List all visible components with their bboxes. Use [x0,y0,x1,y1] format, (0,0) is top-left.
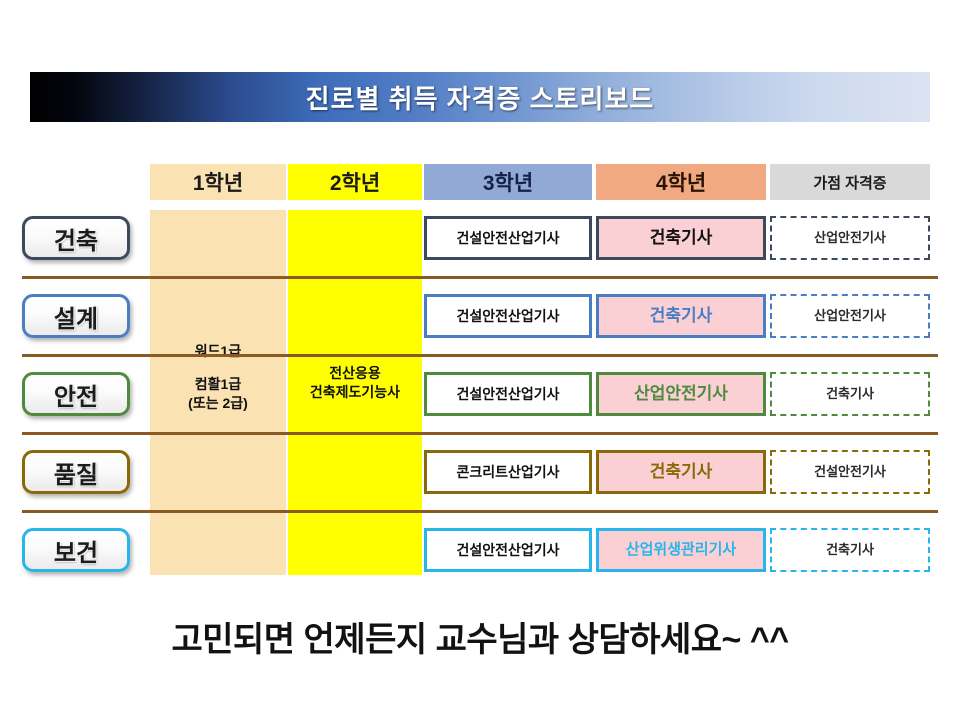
year2-line2: 건축제도기능사 [310,384,400,400]
year1-line3: (또는 2급) [188,395,248,411]
row-label-3[interactable]: 품질 [22,450,130,494]
year2-line1: 전산응용 [329,365,381,381]
cert-year4-row0[interactable]: 건축기사 [596,216,766,260]
column-header-year4: 4학년 [596,164,766,200]
row-label-2[interactable]: 안전 [22,372,130,416]
year1-line2: 컴활1급 [195,376,241,392]
page-title: 진로별 취득 자격증 스토리보드 [306,79,655,116]
cert-bonus-row3[interactable]: 건설안전기사 [770,450,930,494]
cert-bonus-row4[interactable]: 건축기사 [770,528,930,572]
cert-year3-row1[interactable]: 건설안전산업기사 [424,294,592,338]
column-header-year2: 2학년 [288,164,422,200]
column-header-year3: 3학년 [424,164,592,200]
row-separator-overlay [22,276,938,279]
row-label-1[interactable]: 설계 [22,294,130,338]
cert-year3-row4[interactable]: 건설안전산업기사 [424,528,592,572]
cert-bonus-row2[interactable]: 건축기사 [770,372,930,416]
year1-column-band: 워드1급 컴활1급 (또는 2급) [150,210,286,575]
row-label-4[interactable]: 보건 [22,528,130,572]
row-label-0[interactable]: 건축 [22,216,130,260]
column-header-year1: 1학년 [150,164,286,200]
year2-band-text: 전산응용 건축제도기능사 [288,364,422,402]
cert-bonus-row0[interactable]: 산업안전기사 [770,216,930,260]
row-separator-overlay [22,510,938,513]
cert-year3-row0[interactable]: 건설안전산업기사 [424,216,592,260]
footer-note: 고민되면 언제든지 교수님과 상담하세요~ ^^ [0,612,960,661]
cert-year3-row3[interactable]: 콘크리트산업기사 [424,450,592,494]
cert-year4-row1[interactable]: 건축기사 [596,294,766,338]
row-separator-overlay [22,354,938,357]
year2-column-band: 전산응용 건축제도기능사 [288,210,422,575]
cert-year4-row3[interactable]: 건축기사 [596,450,766,494]
title-banner: 진로별 취득 자격증 스토리보드 [30,72,930,122]
cert-year4-row2[interactable]: 산업안전기사 [596,372,766,416]
cert-bonus-row1[interactable]: 산업안전기사 [770,294,930,338]
row-separator-overlay [22,432,938,435]
cert-year3-row2[interactable]: 건설안전산업기사 [424,372,592,416]
year1-band-text: 워드1급 컴활1급 (또는 2급) [150,342,286,413]
cert-year4-row4[interactable]: 산업위생관리기사 [596,528,766,572]
column-header-bonus: 가점 자격증 [770,164,930,200]
